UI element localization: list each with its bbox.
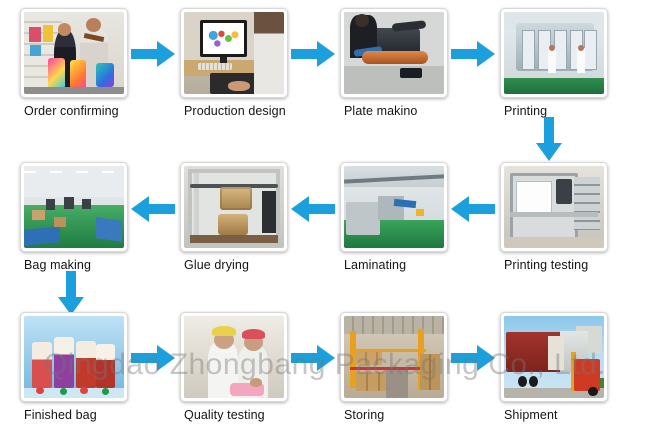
process-flow-diagram: Order confirming Production design Plate…: [0, 0, 650, 431]
glue-drying-photo-frame: [180, 162, 288, 252]
process-step-finished-bag[interactable]: Finished bag: [20, 312, 132, 422]
laminating-photo-frame: [340, 162, 448, 252]
process-step-printing[interactable]: Printing: [500, 8, 612, 118]
storing-photo-frame: [340, 312, 448, 402]
process-step-order-confirming[interactable]: Order confirming: [20, 8, 132, 118]
arrow-right-2: [291, 41, 335, 67]
production-design-photo: [184, 12, 284, 94]
step-label-printing: Printing: [500, 104, 612, 118]
step-label-finished-bag: Finished bag: [20, 408, 132, 422]
arrow-left-2: [291, 196, 335, 222]
printing-photo-frame: [500, 8, 608, 98]
storing-photo: [344, 316, 444, 398]
arrow-left-1: [451, 196, 495, 222]
printing-photo: [504, 12, 604, 94]
process-step-quality-testing[interactable]: Quality testing: [180, 312, 292, 422]
printing-testing-photo: [504, 166, 604, 248]
shipment-photo-frame: [500, 312, 608, 402]
arrow-down-1: [536, 117, 562, 161]
step-label-plate-making: Plate makino: [340, 104, 452, 118]
process-step-bag-making[interactable]: Bag making: [20, 162, 132, 272]
step-label-printing-testing: Printing testing: [500, 258, 612, 272]
process-step-printing-testing[interactable]: Printing testing: [500, 162, 612, 272]
bag-making-photo: [24, 166, 124, 248]
order-confirming-photo-frame: [20, 8, 128, 98]
production-design-photo-frame: [180, 8, 288, 98]
arrow-right-3: [451, 41, 495, 67]
step-label-shipment: Shipment: [500, 408, 612, 422]
process-step-storing[interactable]: Storing: [340, 312, 452, 422]
arrow-right-1: [131, 41, 175, 67]
process-step-glue-drying[interactable]: Glue drying: [180, 162, 292, 272]
laminating-photo: [344, 166, 444, 248]
process-step-shipment[interactable]: Shipment: [500, 312, 612, 422]
plate-making-photo: [344, 12, 444, 94]
glue-drying-photo: [184, 166, 284, 248]
step-label-quality-testing: Quality testing: [180, 408, 292, 422]
step-label-laminating: Laminating: [340, 258, 452, 272]
arrow-right-6: [451, 345, 495, 371]
process-step-plate-making[interactable]: Plate makino: [340, 8, 452, 118]
step-label-glue-drying: Glue drying: [180, 258, 292, 272]
finished-bag-photo-frame: [20, 312, 128, 402]
order-confirming-photo: [24, 12, 124, 94]
process-step-laminating[interactable]: Laminating: [340, 162, 452, 272]
finished-bag-photo: [24, 316, 124, 398]
process-step-production-design[interactable]: Production design: [180, 8, 292, 118]
step-label-bag-making: Bag making: [20, 258, 132, 272]
printing-testing-photo-frame: [500, 162, 608, 252]
quality-testing-photo: [184, 316, 284, 398]
quality-testing-photo-frame: [180, 312, 288, 402]
step-label-order-confirming: Order confirming: [20, 104, 132, 118]
bag-making-photo-frame: [20, 162, 128, 252]
plate-making-photo-frame: [340, 8, 448, 98]
step-label-production-design: Production design: [180, 104, 292, 118]
arrow-down-2: [58, 271, 84, 315]
arrow-right-5: [291, 345, 335, 371]
arrow-right-4: [131, 345, 175, 371]
step-label-storing: Storing: [340, 408, 452, 422]
arrow-left-3: [131, 196, 175, 222]
shipment-photo: [504, 316, 604, 398]
